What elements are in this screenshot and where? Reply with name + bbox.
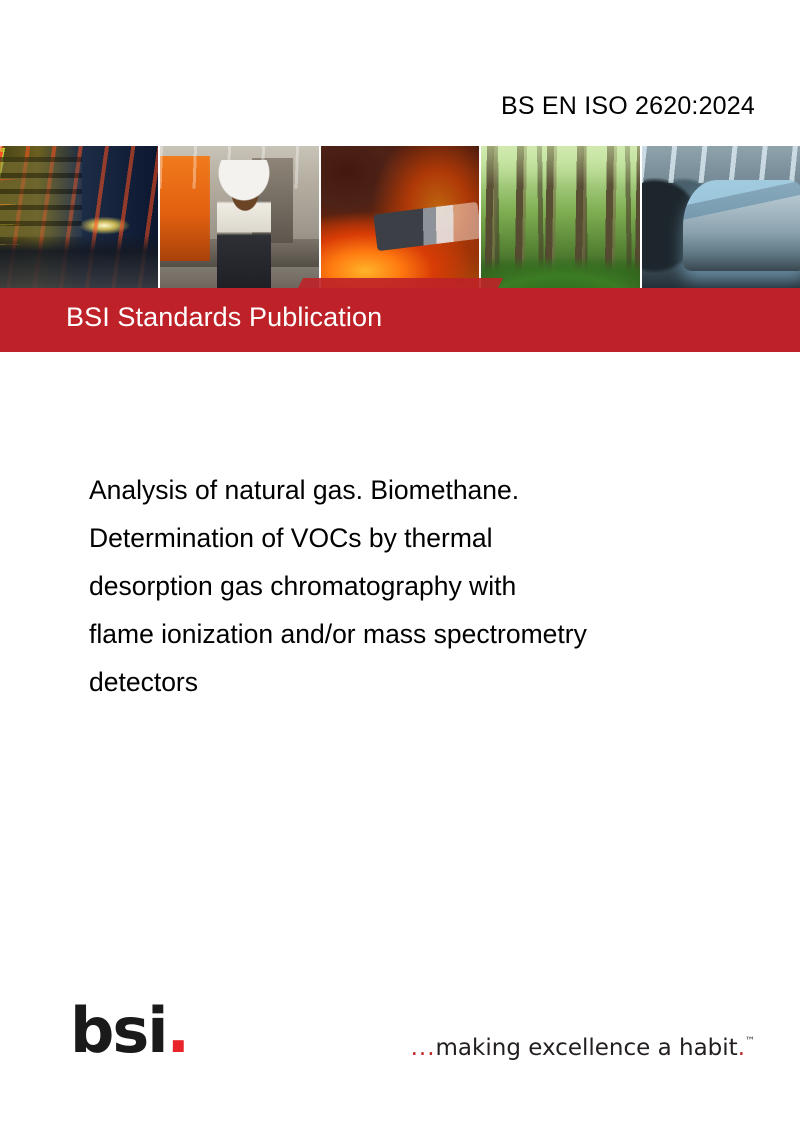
title-line-3: desorption gas chromatography with <box>89 562 739 610</box>
bsi-tagline: ...making excellence a habit.™ <box>411 1035 755 1061</box>
tagline-dot: . <box>738 1035 745 1061</box>
title-line-5: detectors <box>89 658 739 706</box>
standard-number: BS EN ISO 2620:2024 <box>501 92 755 121</box>
bsi-logo-dot: . <box>167 994 189 1067</box>
trademark-icon: ™ <box>745 1036 755 1047</box>
bsi-logo-wordmark: bsi <box>70 994 167 1067</box>
document-title: Analysis of natural gas. Biomethane. Det… <box>89 466 739 706</box>
title-line-4: flame ionization and/or mass spectrometr… <box>89 610 739 658</box>
cover-page: BS EN ISO 2620:2024 BSI Standards Public… <box>0 0 800 1132</box>
strip-image-warehouse-worker <box>160 146 320 288</box>
bsi-standards-banner: BSI Standards Publication <box>0 288 800 352</box>
strip-image-firefighters <box>321 146 481 288</box>
strip-image-night-traffic-light-trails <box>0 146 160 288</box>
bsi-logo: bsi. <box>70 1000 188 1062</box>
tagline-ellipsis: ... <box>411 1035 436 1061</box>
title-line-1: Analysis of natural gas. Biomethane. <box>89 466 739 514</box>
banner-diagonal-accent <box>297 278 503 290</box>
banner-label: BSI Standards Publication <box>66 302 382 333</box>
title-line-2: Determination of VOCs by thermal <box>89 514 739 562</box>
cover-image-strip <box>0 146 800 288</box>
tagline-text: making excellence a habit <box>436 1035 738 1061</box>
strip-image-forest <box>481 146 641 288</box>
strip-image-car-production-line <box>642 146 800 288</box>
